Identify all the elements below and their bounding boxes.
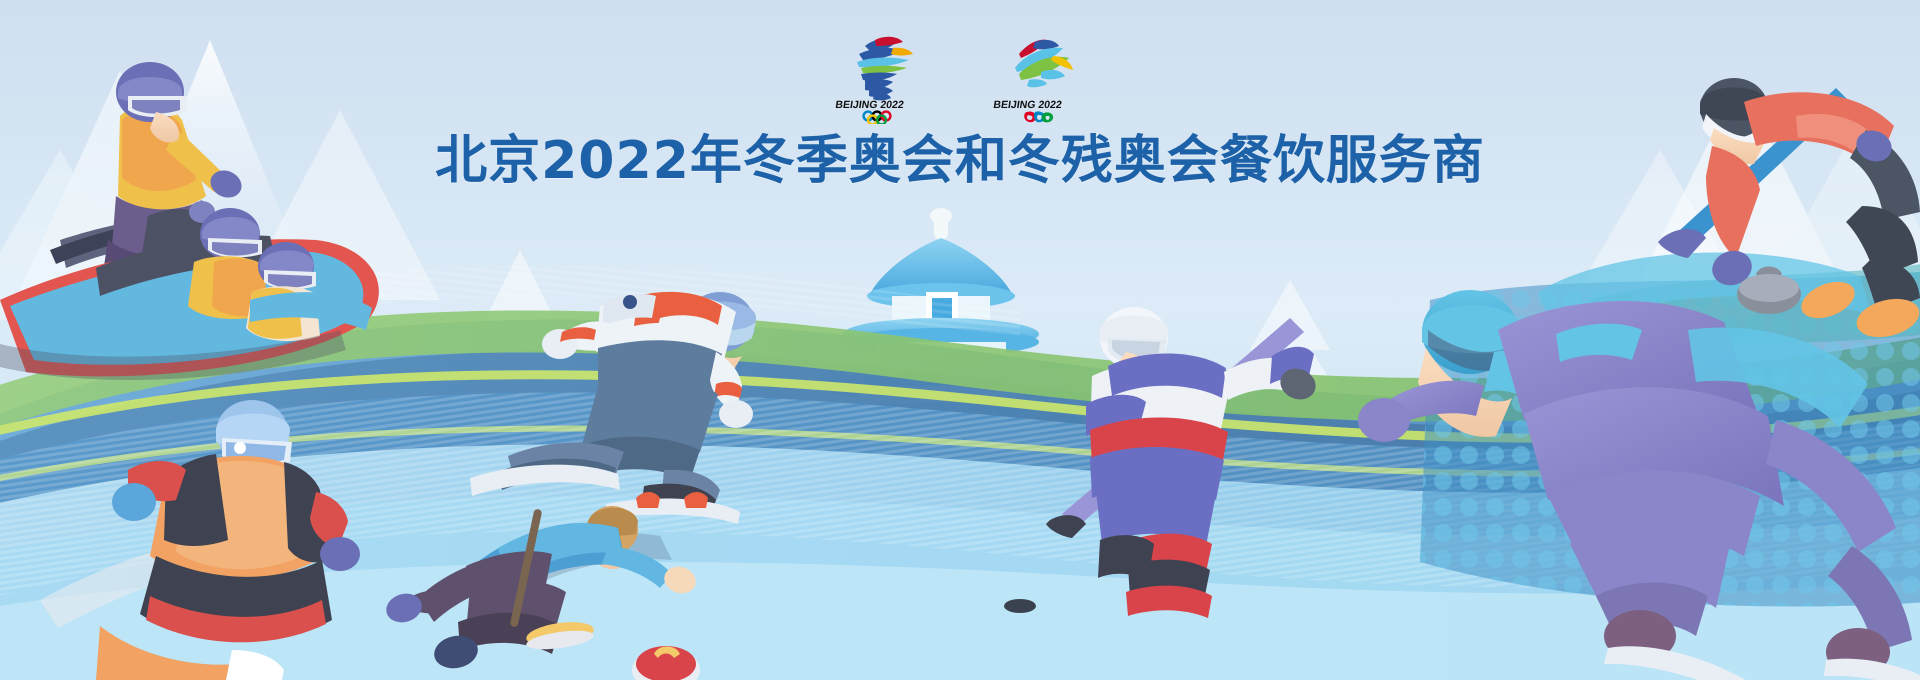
page-title: 北京2022年冬季奥会和冬残奥会餐饮服务商 xyxy=(0,118,1920,193)
athlete-ice-hockey-player xyxy=(1004,307,1320,618)
emblem-row: BEIJING 2022 xyxy=(0,24,1920,124)
olympic-wordmark: BEIJING 2022 xyxy=(835,99,905,111)
paralympic-emblem-symbol xyxy=(1015,40,1073,88)
athlete-speed-skater-right xyxy=(1358,252,1920,680)
olympic-emblem-symbol xyxy=(857,37,913,101)
athlete-cross-country-skier-left xyxy=(40,400,360,680)
athlete-bobsleigh-team xyxy=(0,201,379,380)
olympic-emblem: BEIJING 2022 xyxy=(831,24,931,124)
athlete-curler-bottom-center xyxy=(383,506,700,680)
paralympic-wordmark: BEIJING 2022 xyxy=(993,99,1063,111)
athlete-speed-skater-center-left xyxy=(470,292,756,524)
paralympic-emblem: BEIJING 2022 xyxy=(989,24,1089,124)
olympics-banner: BEIJING 2022 xyxy=(0,0,1920,680)
curling-stone xyxy=(632,646,700,680)
hockey-puck xyxy=(1004,599,1036,613)
